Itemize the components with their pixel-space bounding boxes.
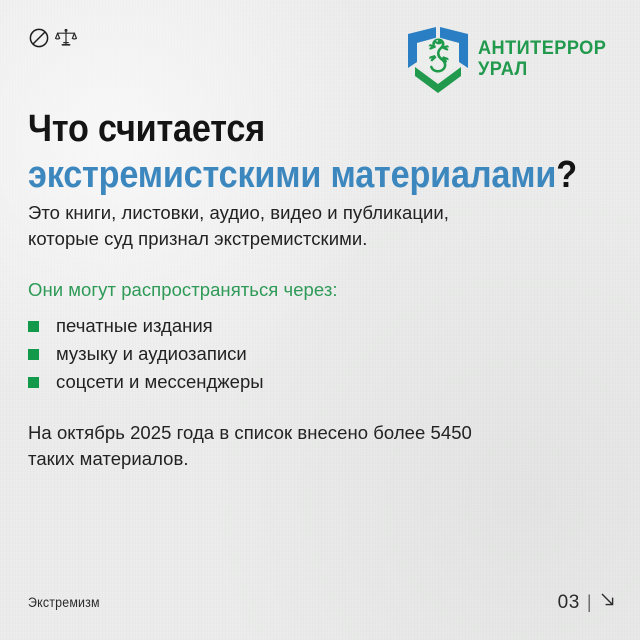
header-icon-group bbox=[28, 26, 78, 50]
bullet-square-icon bbox=[28, 349, 39, 360]
list-item: печатные издания bbox=[28, 312, 264, 340]
intro-paragraph: Это книги, листовки, аудио, видео и публ… bbox=[28, 200, 598, 252]
shield-lizard-logo bbox=[407, 24, 469, 94]
closing-line-2: таких материалов. bbox=[28, 446, 598, 472]
page-title-line-1: Что считается bbox=[28, 106, 532, 152]
footer-topic-label: Экстремизм bbox=[28, 595, 100, 610]
brand-name-line-2: УРАЛ bbox=[478, 59, 606, 80]
scales-of-justice-icon bbox=[54, 26, 78, 50]
closing-paragraph: На октябрь 2025 года в список внесено бо… bbox=[28, 420, 598, 472]
page-number: 03 bbox=[558, 592, 580, 614]
page-title-line-2: экстремистскими материалами? bbox=[28, 152, 532, 198]
brand-logo: АНТИТЕРРОР УРАЛ bbox=[407, 24, 616, 94]
closing-line-1: На октябрь 2025 года в список внесено бо… bbox=[28, 420, 598, 446]
page-title-question-mark: ? bbox=[556, 154, 577, 196]
page-title-accent: экстремистскими материалами bbox=[28, 154, 556, 196]
brand-name-line-1: АНТИТЕРРОР bbox=[478, 38, 606, 59]
footer-pagination: 03 | bbox=[558, 591, 616, 614]
prohibition-icon bbox=[28, 27, 50, 49]
intro-line-2: которые суд признал экстремистскими. bbox=[28, 226, 598, 252]
page-title: Что считается экстремистскими материалам… bbox=[28, 106, 588, 198]
list-item-label: музыку и аудиозаписи bbox=[56, 343, 247, 365]
brand-logo-text: АНТИТЕРРОР УРАЛ bbox=[478, 38, 616, 79]
footer: Экстремизм 03 | bbox=[28, 591, 616, 614]
list-item-label: соцсети и мессенджеры bbox=[56, 371, 264, 393]
bullet-square-icon bbox=[28, 321, 39, 332]
list-item: музыку и аудиозаписи bbox=[28, 340, 264, 368]
footer-divider: | bbox=[587, 592, 592, 613]
list-item: соцсети и мессенджеры bbox=[28, 368, 264, 396]
intro-line-1: Это книги, листовки, аудио, видео и публ… bbox=[28, 200, 598, 226]
section-subheading: Они могут распространяться через: bbox=[28, 277, 338, 303]
arrow-down-right-icon[interactable] bbox=[599, 591, 616, 614]
list-item-label: печатные издания bbox=[56, 315, 213, 337]
header-bar: АНТИТЕРРОР УРАЛ bbox=[28, 24, 616, 98]
bullet-square-icon bbox=[28, 377, 39, 388]
slide-card: АНТИТЕРРОР УРАЛ Что считается экстремист… bbox=[0, 0, 640, 640]
channels-list: печатные издания музыку и аудиозаписи со… bbox=[28, 312, 264, 396]
